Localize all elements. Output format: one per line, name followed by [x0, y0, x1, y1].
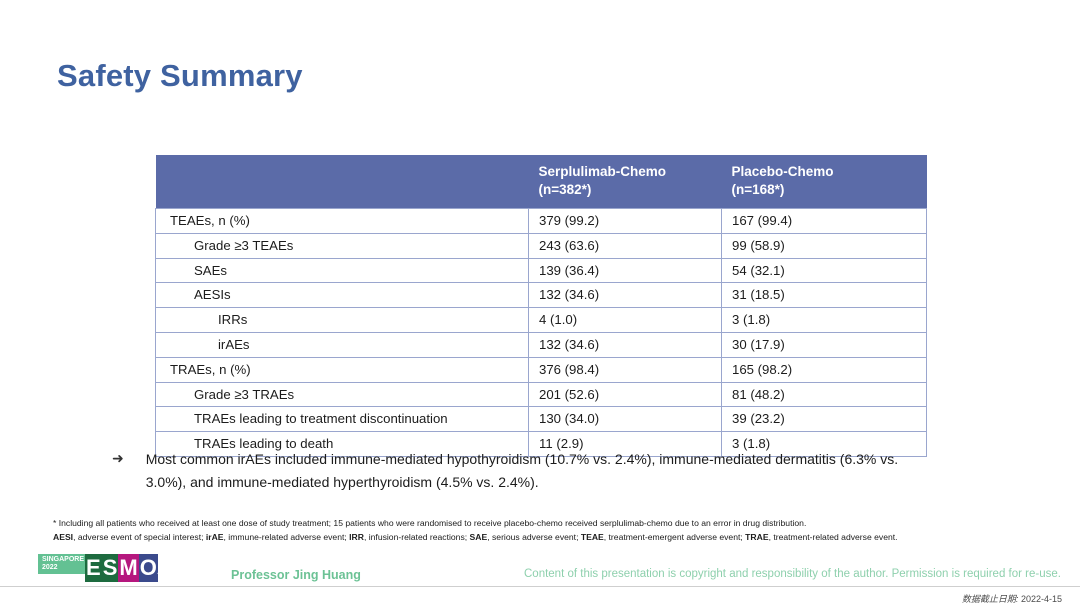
logo-year: 2022	[42, 564, 81, 572]
abbreviation-term: irAE	[206, 532, 224, 542]
abbreviation-definition: , infusion-related reactions;	[364, 532, 470, 542]
safety-summary-table: Serplulimab-Chemo (n=382*) Placebo-Chemo…	[155, 155, 927, 457]
row-label: Grade ≥3 TEAEs	[156, 233, 529, 258]
cell-placebo: 81 (48.2)	[722, 382, 927, 407]
cell-placebo: 165 (98.2)	[722, 357, 927, 382]
footer-divider	[0, 586, 1080, 587]
logo-esmo-letters: E S M O ASIA	[85, 554, 210, 582]
table-body: TEAEs, n (%)379 (99.2)167 (99.4)Grade ≥3…	[156, 208, 927, 456]
cell-serplulimab: 132 (34.6)	[529, 283, 722, 308]
footnote-asterisk: * Including all patients who received at…	[53, 517, 1013, 531]
cell-serplulimab: 130 (34.0)	[529, 407, 722, 432]
row-label: Grade ≥3 TRAEs	[156, 382, 529, 407]
logo-letter-e: E	[85, 554, 102, 582]
footnotes: * Including all patients who received at…	[53, 517, 1013, 545]
presenter-name: Professor Jing Huang	[231, 568, 361, 582]
cell-placebo: 3 (1.8)	[722, 308, 927, 333]
bullet-text: Most common irAEs included immune-mediat…	[146, 448, 942, 494]
table-row: TRAEs leading to treatment discontinuati…	[156, 407, 927, 432]
column-header-placebo: Placebo-Chemo (n=168*)	[722, 155, 927, 208]
cell-serplulimab: 132 (34.6)	[529, 332, 722, 357]
abbreviation-term: IRR	[349, 532, 364, 542]
cell-serplulimab: 139 (36.4)	[529, 258, 722, 283]
logo-singapore-box: SINGAPORE 2022	[38, 554, 85, 574]
table-row: TRAEs, n (%)376 (98.4)165 (98.2)	[156, 357, 927, 382]
logo-letter-s: S	[102, 554, 119, 582]
row-label: TEAEs, n (%)	[156, 208, 529, 233]
safety-table-container: Serplulimab-Chemo (n=382*) Placebo-Chemo…	[155, 155, 926, 457]
abbreviation-term: AESI	[53, 532, 73, 542]
arrow-bullet-icon: ➜	[112, 448, 124, 469]
cell-serplulimab: 379 (99.2)	[529, 208, 722, 233]
table-row: SAEs139 (36.4)54 (32.1)	[156, 258, 927, 283]
page-title: Safety Summary	[57, 58, 303, 94]
column-header-serplulimab: Serplulimab-Chemo (n=382*)	[529, 155, 722, 208]
data-cutoff-value: 2022-4-15	[1021, 594, 1062, 604]
logo-region-asia: ASIA	[156, 553, 211, 582]
cell-placebo: 167 (99.4)	[722, 208, 927, 233]
column-header-category	[156, 155, 529, 208]
logo-city: SINGAPORE	[42, 556, 81, 564]
cell-serplulimab: 243 (63.6)	[529, 233, 722, 258]
cell-serplulimab: 4 (1.0)	[529, 308, 722, 333]
row-label: IRRs	[156, 308, 529, 333]
row-label: SAEs	[156, 258, 529, 283]
abbreviation-term: SAE	[470, 532, 488, 542]
table-row: Grade ≥3 TEAEs243 (63.6)99 (58.9)	[156, 233, 927, 258]
cell-serplulimab: 201 (52.6)	[529, 382, 722, 407]
cell-placebo: 54 (32.1)	[722, 258, 927, 283]
abbreviation-definition: , treatment-emergent adverse event;	[604, 532, 745, 542]
table-row: TEAEs, n (%)379 (99.2)167 (99.4)	[156, 208, 927, 233]
table-row: Grade ≥3 TRAEs201 (52.6)81 (48.2)	[156, 382, 927, 407]
logo-letter-m: M	[118, 554, 138, 582]
table-row: AESIs132 (34.6)31 (18.5)	[156, 283, 927, 308]
data-cutoff-date: 数据截止日期: 2022-4-15	[962, 592, 1062, 605]
cell-serplulimab: 376 (98.4)	[529, 357, 722, 382]
abbreviation-term: TEAE	[581, 532, 604, 542]
key-finding-bullet: ➜ Most common irAEs included immune-medi…	[112, 448, 942, 494]
abbreviation-definition: , adverse event of special interest;	[73, 532, 206, 542]
footnote-abbreviations: AESI, adverse event of special interest;…	[53, 531, 1013, 545]
row-label: irAEs	[156, 332, 529, 357]
esmo-asia-logo: SINGAPORE 2022 E S M O ASIA	[38, 554, 210, 584]
abbreviation-definition: , immune-related adverse event;	[224, 532, 350, 542]
abbreviation-term: TRAE	[745, 532, 768, 542]
cell-placebo: 30 (17.9)	[722, 332, 927, 357]
table-head: Serplulimab-Chemo (n=382*) Placebo-Chemo…	[156, 155, 927, 208]
abbreviation-definition: , serious adverse event;	[487, 532, 581, 542]
data-cutoff-label: 数据截止日期:	[962, 594, 1019, 604]
copyright-notice: Content of this presentation is copyrigh…	[524, 568, 1061, 580]
row-label: TRAEs leading to treatment discontinuati…	[156, 407, 529, 432]
row-label: AESIs	[156, 283, 529, 308]
cell-placebo: 39 (23.2)	[722, 407, 927, 432]
row-label: TRAEs, n (%)	[156, 357, 529, 382]
table-row: IRRs4 (1.0)3 (1.8)	[156, 308, 927, 333]
cell-placebo: 31 (18.5)	[722, 283, 927, 308]
table-header-row: Serplulimab-Chemo (n=382*) Placebo-Chemo…	[156, 155, 927, 208]
cell-placebo: 99 (58.9)	[722, 233, 927, 258]
table-row: irAEs132 (34.6)30 (17.9)	[156, 332, 927, 357]
abbreviation-definition: , treatment-related adverse event.	[769, 532, 898, 542]
slide-root: Safety Summary Serplulimab-Chemo (n=382*…	[0, 0, 1080, 608]
